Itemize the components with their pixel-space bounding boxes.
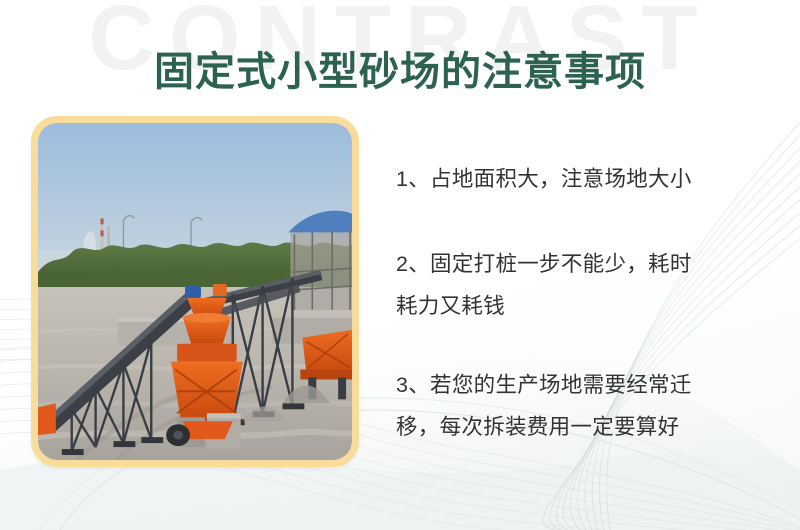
page-title: 固定式小型砂场的注意事项 (0, 45, 800, 99)
notice-list: 1、占地面积大，注意场地大小 2、固定打桩一步不能少，耗时 耗力又耗钱 3、若您… (396, 136, 782, 448)
notice-item-2: 2、固定打桩一步不能少，耗时 耗力又耗钱 (396, 243, 782, 327)
quarry-plant-photo (38, 123, 352, 460)
notice-item-1: 1、占地面积大，注意场地大小 (396, 158, 782, 200)
poster-canvas: CONTRAST 固定式小型砂场的注意事项 (0, 0, 800, 530)
photo-frame (31, 116, 359, 467)
notice-item-3: 3、若您的生产场地需要经常迁 移，每次拆装费用一定要算好 (396, 364, 782, 448)
